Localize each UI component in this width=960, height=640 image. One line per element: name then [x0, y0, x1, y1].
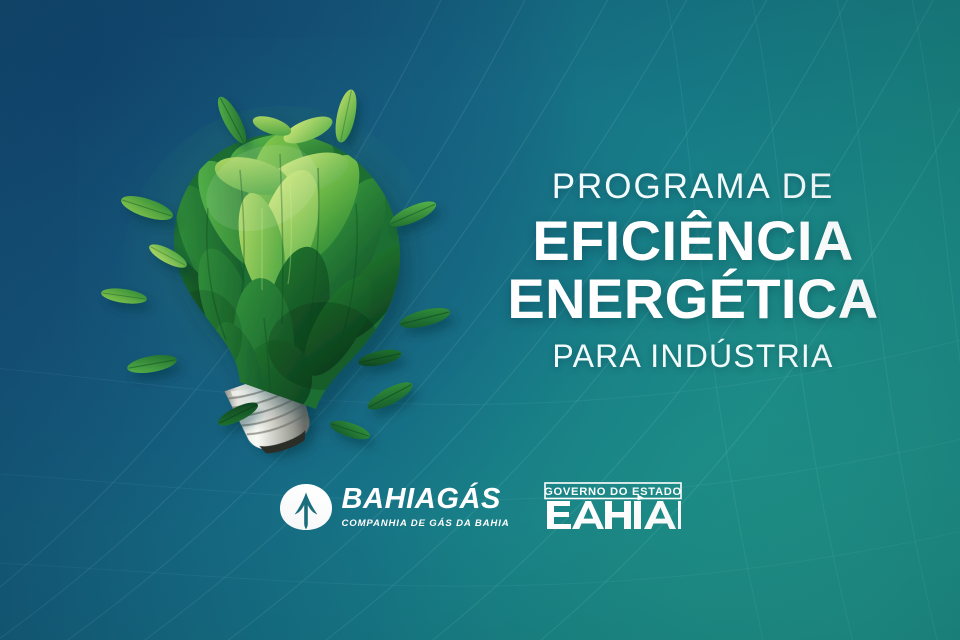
headline-title-line-2: ENERGÉTICA	[478, 269, 908, 329]
headline-subtitle: PARA INDÚSTRIA	[478, 339, 908, 375]
bahiagas-logo: BAHIAGÁS COMPANHIA DE GÁS DA BAHIA	[279, 483, 510, 531]
governo-do-estado-bahia-logo: GOVERNO DO ESTADO	[544, 482, 682, 532]
bahiagas-name: BAHIAGÁS	[342, 485, 501, 514]
leaf-lightbulb-illustration	[112, 96, 452, 456]
promo-banner: PROGRAMA DE EFICIÊNCIA ENERGÉTICA PARA I…	[0, 0, 960, 640]
governo-top-label: GOVERNO DO ESTADO	[544, 486, 682, 498]
headline-title-line-1: EFICIÊNCIA	[478, 211, 908, 271]
bahiagas-tagline: COMPANHIA DE GÁS DA BAHIA	[342, 519, 510, 529]
headline-block: PROGRAMA DE EFICIÊNCIA ENERGÉTICA PARA I…	[478, 168, 908, 375]
bahia-wordmark	[547, 495, 676, 530]
bahiagas-wordmark: BAHIAGÁS COMPANHIA DE GÁS DA BAHIA	[342, 485, 510, 529]
bahiagas-flame-circle-mark-icon	[279, 483, 333, 531]
logo-strip: BAHIAGÁS COMPANHIA DE GÁS DA BAHIA GOVER…	[0, 482, 960, 532]
headline-kicker: PROGRAMA DE	[478, 168, 908, 207]
